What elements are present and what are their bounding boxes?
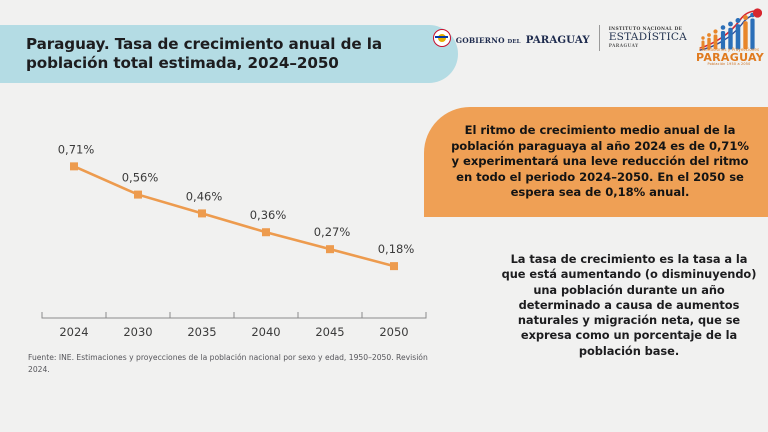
- data-point-marker: [198, 209, 206, 217]
- x-tick-label: 2050: [379, 325, 408, 339]
- chart-x-axis: [42, 312, 426, 318]
- data-label: 0,46%: [186, 189, 223, 203]
- source-note: Fuente: INE. Estimaciones y proyecciones…: [28, 352, 448, 376]
- gobierno-logo-line2: PARAGUAY: [526, 34, 590, 46]
- insight-callout: El ritmo de crecimiento medio anual de l…: [424, 107, 768, 217]
- chart-x-tick-labels: 202420302035204020452050: [59, 325, 408, 339]
- gobierno-logo-line1: GOBIERNO DEL: [456, 36, 521, 45]
- data-point-marker: [262, 228, 270, 236]
- estimaciones-proyecciones-paraguay-logo: Estimaciones y Proyecciones PARAGUAY Pob…: [696, 8, 762, 68]
- page-title-banner: Paraguay. Tasa de crecimiento anual de l…: [0, 25, 458, 83]
- data-label: 0,36%: [250, 208, 287, 222]
- instituto-nacional-de-estadistica-logo: INSTITUTO NACIONAL DE ESTADÍSTICA PARAGU…: [609, 28, 687, 49]
- page-title: Paraguay. Tasa de crecimiento anual de l…: [0, 35, 458, 74]
- ine-logo-bottom-line: PARAGUAY: [609, 44, 687, 49]
- chart-series-layer: [70, 162, 398, 270]
- x-tick-label: 2040: [251, 325, 280, 339]
- data-point-marker: [326, 245, 334, 253]
- data-point-marker: [390, 262, 398, 270]
- population-figures-icon: [696, 8, 762, 52]
- projections-logo-big-line: PARAGUAY: [696, 52, 762, 63]
- insight-callout-text: El ritmo de crecimiento medio anual de l…: [446, 123, 754, 200]
- x-tick-label: 2030: [123, 325, 152, 339]
- data-label: 0,56%: [122, 171, 159, 185]
- data-label: 0,71%: [58, 142, 95, 156]
- data-point-marker: [134, 191, 142, 199]
- x-tick-label: 2045: [315, 325, 344, 339]
- data-label: 0,18%: [378, 242, 415, 256]
- projections-logo-caption: Estimaciones y Proyecciones PARAGUAY Pob…: [696, 48, 762, 66]
- data-point-marker: [70, 162, 78, 170]
- gobierno-logo-wordmark: GOBIERNO DEL PARAGUAY: [456, 30, 590, 46]
- chart-canvas: 0,71%0,56%0,46%0,36%0,27%0,18% 202420302…: [12, 100, 482, 350]
- logo-bar: GOBIERNO DEL PARAGUAY INSTITUTO NACIONAL…: [433, 6, 762, 70]
- growth-rate-line-chart: 0,71%0,56%0,46%0,36%0,27%0,18% 202420302…: [12, 100, 482, 350]
- data-label: 0,27%: [314, 225, 351, 239]
- x-tick-label: 2024: [59, 325, 88, 339]
- definition-text: La tasa de crecimiento es la tasa a la q…: [498, 252, 760, 359]
- gobierno-del-paraguay-logo: GOBIERNO DEL PARAGUAY: [433, 29, 590, 47]
- chart-data-labels: 0,71%0,56%0,46%0,36%0,27%0,18%: [58, 142, 415, 256]
- paraguay-seal-icon: [433, 29, 451, 47]
- logo-divider: [599, 25, 600, 51]
- x-tick-label: 2035: [187, 325, 216, 339]
- definition-block: La tasa de crecimiento es la tasa a la q…: [498, 252, 760, 359]
